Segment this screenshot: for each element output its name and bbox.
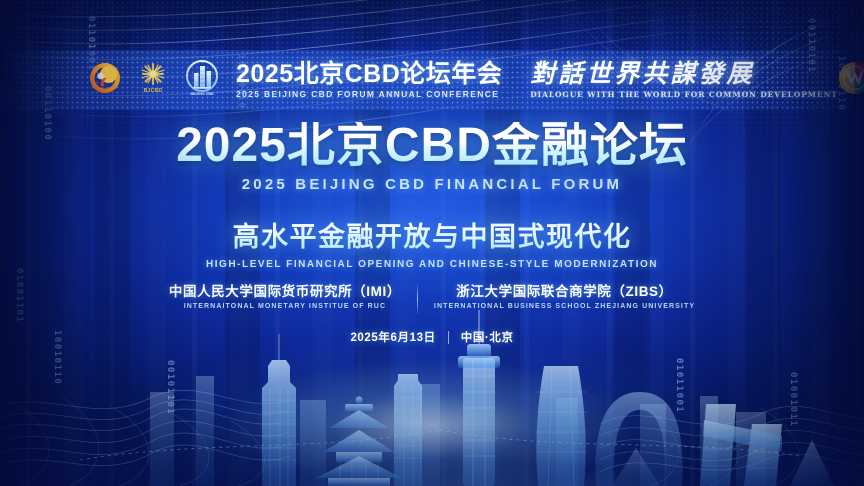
conference-banner: 01001101 00110100 10010110 01101001 0010… [0,0,864,486]
vertical-vignette [0,0,864,486]
